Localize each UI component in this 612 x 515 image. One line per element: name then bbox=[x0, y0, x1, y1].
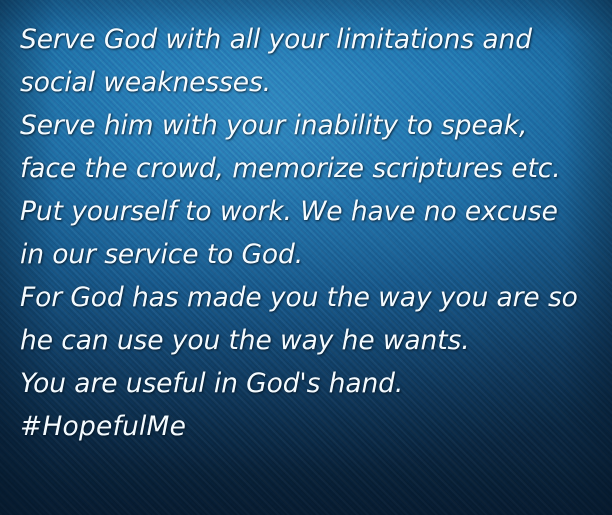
quote-line: face the crowd, memorize scriptures etc. bbox=[20, 147, 602, 190]
quote-line: Serve God with all your limitations and bbox=[20, 18, 602, 61]
inspirational-quote-card: Serve God with all your limitations and … bbox=[0, 0, 612, 515]
quote-line: Serve him with your inability to speak, bbox=[20, 104, 602, 147]
quote-line: For God has made you the way you are so bbox=[20, 276, 602, 319]
quote-line: You are useful in God's hand. bbox=[20, 362, 602, 405]
quote-line: Put yourself to work. We have no excuse bbox=[20, 190, 602, 233]
quote-line: social weaknesses. bbox=[20, 61, 602, 104]
quote-text-block: Serve God with all your limitations and … bbox=[20, 18, 602, 448]
quote-line: he can use you the way he wants. bbox=[20, 319, 602, 362]
quote-line: in our service to God. bbox=[20, 233, 602, 276]
hashtag-label: #HopefulMe bbox=[20, 405, 602, 448]
